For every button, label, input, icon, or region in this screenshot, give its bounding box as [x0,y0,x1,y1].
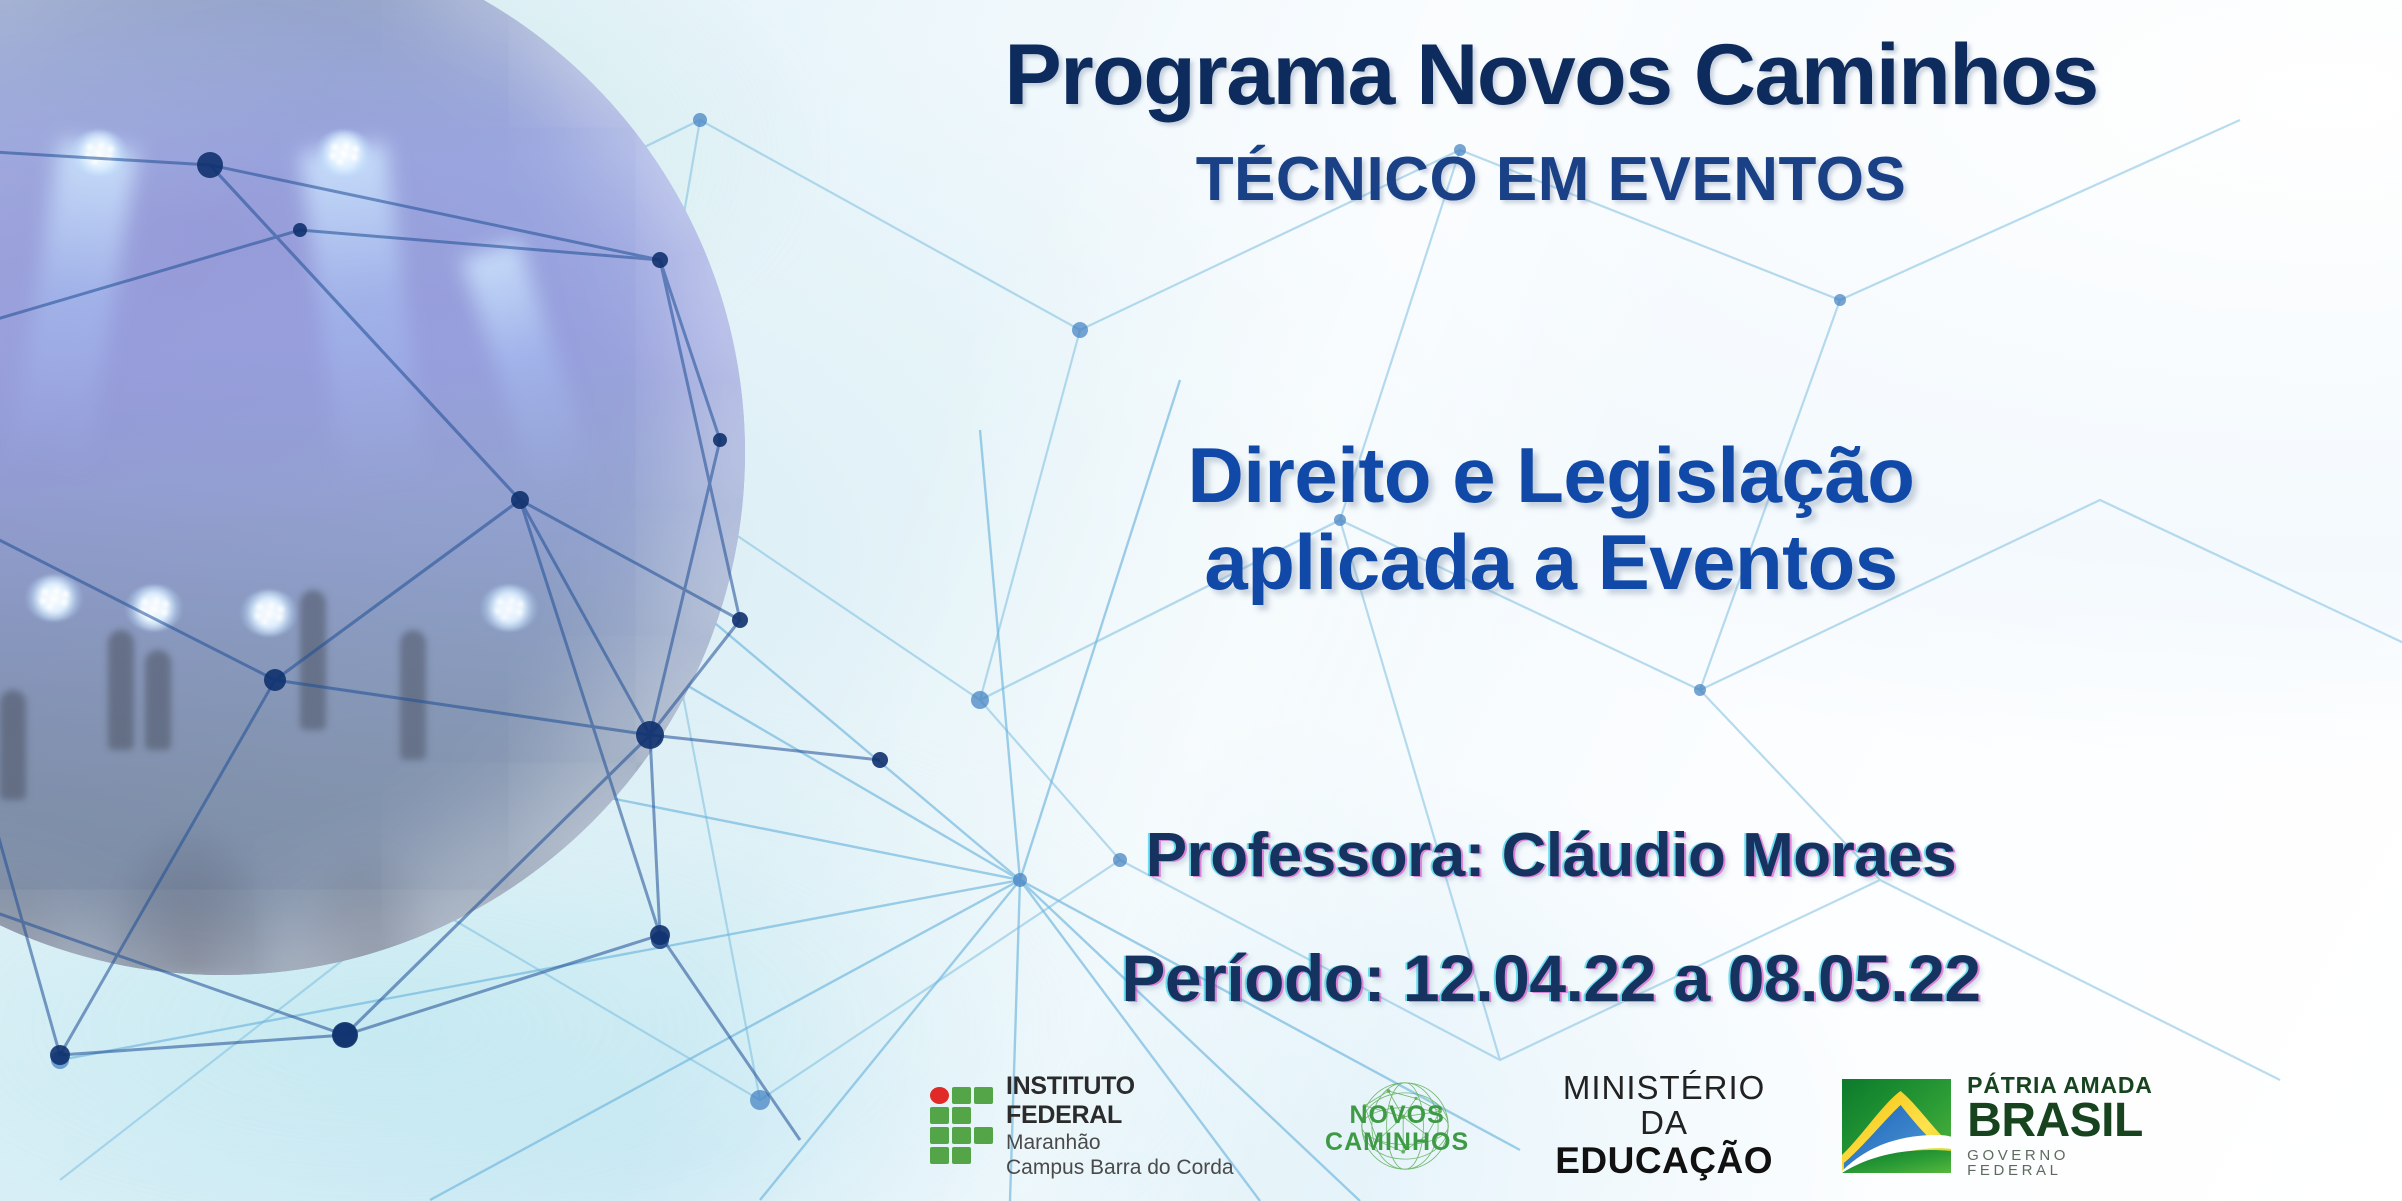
subject-title: Direito e Legislação aplicada a Eventos [740,432,2362,607]
subject-line-1: Direito e Legislação [740,432,2362,519]
nc-line-1: NOVOS [1297,1102,1497,1129]
brasil-flag-wave-icon [1842,1079,1952,1173]
teacher-label: Professora: Cláudio Moraes [740,820,2362,891]
patria-amada-text: PÁTRIA AMADA BRASIL GOVERNO FEDERAL [1967,1074,2160,1178]
ministerio-educacao-logo: MINISTÉRIO DA EDUCAÇÃO [1541,1071,1788,1180]
me-line-1: MINISTÉRIO DA [1541,1071,1788,1141]
me-line-2: EDUCAÇÃO [1541,1141,1788,1180]
poster-canvas: Programa Novos Caminhos TÉCNICO EM EVENT… [0,0,2402,1201]
instituto-federal-mark-icon [930,1087,993,1165]
period-label: Período: 12.04.22 a 08.05.22 [740,940,2362,1016]
course-title: TÉCNICO EM EVENTOS [740,144,2362,215]
if-line-2: Maranhão [1006,1131,1243,1156]
logo-strip: INSTITUTO FEDERAL Maranhão Campus Barra … [930,1061,2160,1191]
nc-line-2: CAMINHOS [1297,1129,1497,1156]
instituto-federal-logo: INSTITUTO FEDERAL Maranhão Campus Barra … [930,1072,1243,1181]
novos-caminhos-logo: NOVOS CAMINHOS [1297,1078,1487,1174]
instituto-federal-text: INSTITUTO FEDERAL Maranhão Campus Barra … [1006,1072,1243,1181]
novos-caminhos-text: NOVOS CAMINHOS [1297,1102,1497,1155]
pa-line-3: GOVERNO FEDERAL [1967,1148,2160,1178]
text-content: Programa Novos Caminhos TÉCNICO EM EVENT… [740,0,2362,1201]
if-line-3: Campus Barra do Corda [1006,1156,1243,1181]
subject-line-2: aplicada a Eventos [740,519,2362,606]
program-title: Programa Novos Caminhos [740,26,2362,125]
patria-amada-brasil-logo: PÁTRIA AMADA BRASIL GOVERNO FEDERAL [1842,1074,2160,1178]
pa-line-2: BRASIL [1967,1097,2160,1145]
if-line-1: INSTITUTO FEDERAL [1006,1072,1243,1131]
instituto-federal-red-dot-icon [930,1087,949,1104]
